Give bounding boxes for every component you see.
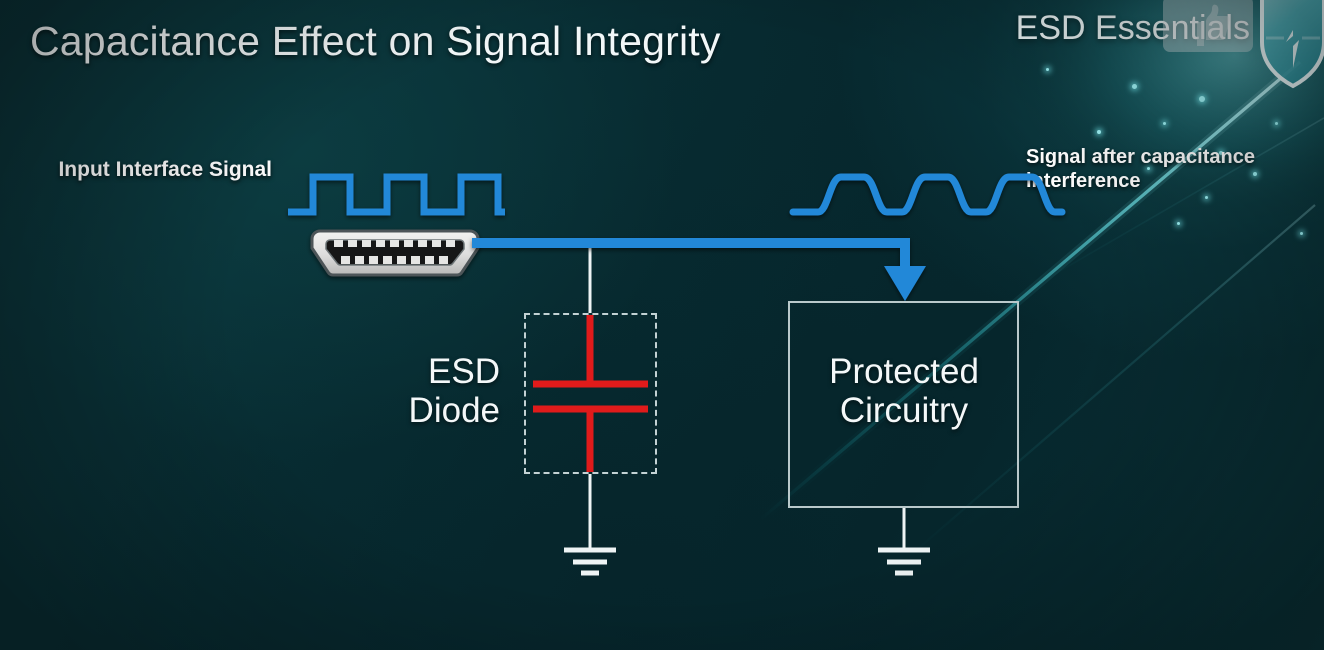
output-waveform <box>793 177 1062 212</box>
hdmi-connector <box>312 231 478 275</box>
arrow-head-icon <box>884 266 926 301</box>
slide-canvas: Capacitance Effect on Signal Integrity E… <box>0 0 1324 650</box>
ground-symbol-left <box>564 550 616 573</box>
signal-trace <box>472 243 926 301</box>
input-waveform <box>288 177 505 212</box>
ground-symbol-right <box>878 550 930 573</box>
esd-diode-outline <box>524 313 657 474</box>
circuit-diagram <box>0 0 1324 650</box>
protected-circuitry-label: Protected Circuitry <box>789 352 1019 430</box>
esd-diode-label: ESD Diode <box>392 352 500 430</box>
